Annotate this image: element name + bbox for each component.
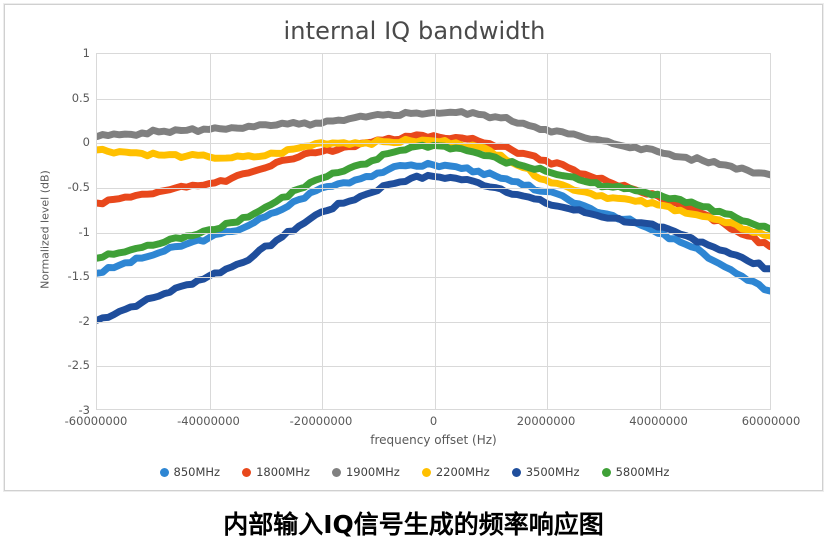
legend-label: 5800MHz: [616, 465, 670, 479]
legend-marker-icon: [332, 468, 341, 477]
legend-marker-icon: [242, 468, 251, 477]
legend-marker-icon: [422, 468, 431, 477]
legend-label: 2200MHz: [436, 465, 490, 479]
legend-item-3500mhz[interactable]: 3500MHz: [512, 465, 580, 479]
chart-legend: 850MHz1800MHz1900MHz2200MHz3500MHz5800MH…: [5, 465, 824, 479]
legend-label: 1900MHz: [346, 465, 400, 479]
legend-label: 3500MHz: [526, 465, 580, 479]
x-tick-label: 0: [430, 414, 437, 428]
gridline-vertical: [547, 54, 548, 409]
legend-marker-icon: [512, 468, 521, 477]
y-tick-label: -2.5: [68, 358, 90, 372]
legend-marker-icon: [160, 468, 169, 477]
x-axis-ticks: -60000000-40000000-200000000200000004000…: [96, 414, 771, 432]
legend-label: 850MHz: [174, 465, 221, 479]
figure-caption: 内部输入IQ信号生成的频率响应图: [0, 505, 827, 541]
legend-item-5800mhz[interactable]: 5800MHz: [602, 465, 670, 479]
chart-frame: internal IQ bandwidth Normalized level (…: [4, 4, 823, 491]
gridline-horizontal: [97, 366, 770, 367]
y-axis-ticks: 10.50-0.5-1-1.5-2-2.5-3: [45, 53, 90, 410]
x-tick-label: -60000000: [65, 414, 128, 428]
plot-wrapper: [96, 53, 771, 410]
series-lines: [97, 54, 770, 409]
x-tick-label: 60000000: [742, 414, 801, 428]
y-tick-label: -1: [79, 225, 90, 239]
gridline-horizontal: [97, 99, 770, 100]
y-tick-label: -0.5: [68, 180, 90, 194]
gridline-horizontal: [97, 277, 770, 278]
legend-label: 1800MHz: [256, 465, 310, 479]
plot-area: [96, 53, 771, 410]
gridline-horizontal: [97, 143, 770, 144]
gridline-vertical: [435, 54, 436, 409]
legend-marker-icon: [602, 468, 611, 477]
x-tick-label: 20000000: [517, 414, 576, 428]
gridline-vertical: [210, 54, 211, 409]
legend-item-850mhz[interactable]: 850MHz: [160, 465, 221, 479]
legend-item-1900mhz[interactable]: 1900MHz: [332, 465, 400, 479]
legend-item-1800mhz[interactable]: 1800MHz: [242, 465, 310, 479]
figure-page: internal IQ bandwidth Normalized level (…: [0, 0, 827, 556]
gridline-vertical: [322, 54, 323, 409]
gridline-horizontal: [97, 322, 770, 323]
y-tick-label: 1: [83, 46, 90, 60]
chart-title: internal IQ bandwidth: [5, 17, 824, 45]
gridline-vertical: [660, 54, 661, 409]
x-tick-label: 40000000: [629, 414, 688, 428]
legend-item-2200mhz[interactable]: 2200MHz: [422, 465, 490, 479]
y-tick-label: -2: [79, 314, 90, 328]
y-tick-label: 0: [83, 135, 90, 149]
gridline-horizontal: [97, 188, 770, 189]
gridline-horizontal: [97, 233, 770, 234]
y-tick-label: -1.5: [68, 269, 90, 283]
y-tick-label: 0.5: [72, 91, 90, 105]
x-axis-title: frequency offset (Hz): [96, 433, 771, 447]
x-tick-label: -20000000: [290, 414, 353, 428]
x-tick-label: -40000000: [177, 414, 240, 428]
